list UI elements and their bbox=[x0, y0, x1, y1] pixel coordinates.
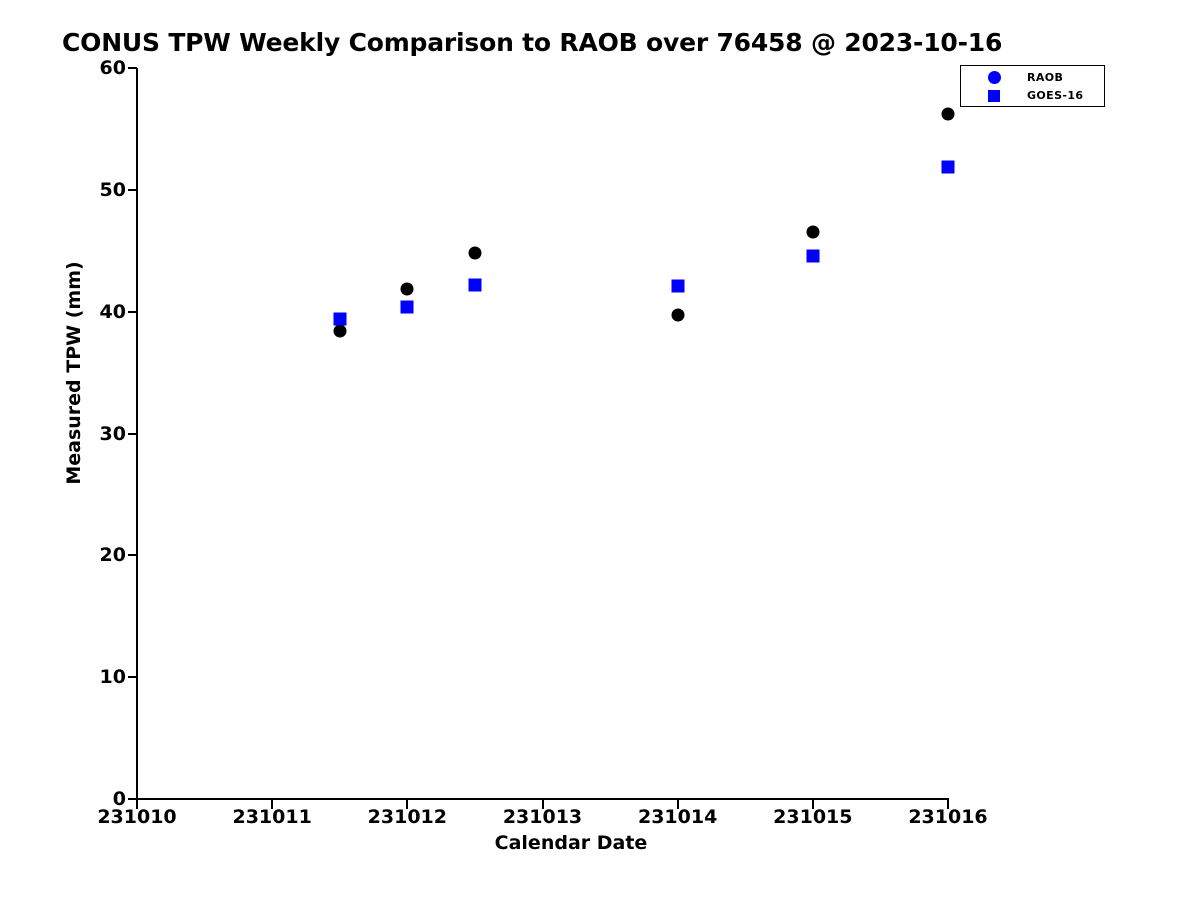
chart-figure: CONUS TPW Weekly Comparison to RAOB over… bbox=[0, 0, 1200, 900]
data-point-raob bbox=[468, 247, 481, 260]
legend-label-goes16: GOES-16 bbox=[1027, 89, 1084, 102]
legend-label-raob: RAOB bbox=[1027, 71, 1063, 84]
y-axis-tick-label: 30 bbox=[100, 423, 126, 445]
x-axis-tick-label: 231013 bbox=[503, 806, 582, 828]
circle-marker-icon bbox=[988, 71, 1001, 84]
data-point-raob bbox=[671, 309, 684, 322]
y-axis-tick-label: 40 bbox=[100, 301, 126, 323]
y-axis-tick-label: 50 bbox=[100, 179, 126, 201]
data-point-goes-16 bbox=[401, 300, 414, 313]
square-marker-icon bbox=[988, 90, 1000, 102]
x-axis-tick-label: 231012 bbox=[368, 806, 447, 828]
x-axis-label: Calendar Date bbox=[0, 832, 1200, 854]
legend-marker-slot-goes16 bbox=[961, 90, 1027, 102]
legend-item-raob[interactable]: RAOB bbox=[961, 68, 1106, 87]
y-axis-tick bbox=[128, 554, 137, 556]
y-axis-tick-label: 60 bbox=[100, 57, 126, 79]
y-axis-tick bbox=[128, 676, 137, 678]
y-axis-tick bbox=[128, 433, 137, 435]
data-point-raob bbox=[806, 226, 819, 239]
legend: RAOB GOES-16 bbox=[960, 65, 1105, 107]
data-point-raob bbox=[401, 282, 414, 295]
data-point-goes-16 bbox=[468, 278, 481, 291]
data-point-raob bbox=[942, 108, 955, 121]
x-axis-tick-label: 231015 bbox=[773, 806, 852, 828]
legend-marker-slot-raob bbox=[961, 71, 1027, 84]
legend-item-goes16[interactable]: GOES-16 bbox=[961, 86, 1106, 105]
chart-title: CONUS TPW Weekly Comparison to RAOB over… bbox=[62, 28, 1002, 57]
data-point-goes-16 bbox=[942, 160, 955, 173]
x-axis-tick-label: 231016 bbox=[908, 806, 987, 828]
data-point-goes-16 bbox=[671, 280, 684, 293]
y-axis-tick bbox=[128, 189, 137, 191]
x-axis-label-text: Calendar Date bbox=[495, 832, 648, 854]
y-axis-tick-label: 10 bbox=[100, 666, 126, 688]
y-axis-tick-label: 20 bbox=[100, 544, 126, 566]
x-axis-tick-label: 231011 bbox=[232, 806, 311, 828]
data-point-goes-16 bbox=[806, 249, 819, 262]
x-axis-tick-labels: 2310102310112310122310132310142310152310… bbox=[137, 806, 948, 834]
plot-area bbox=[137, 68, 948, 799]
data-point-raob bbox=[333, 325, 346, 338]
y-axis-tick bbox=[128, 67, 137, 69]
y-axis-tick bbox=[128, 311, 137, 313]
data-point-goes-16 bbox=[333, 312, 346, 325]
x-axis-tick-label: 231010 bbox=[97, 806, 176, 828]
x-axis-tick-label: 231014 bbox=[638, 806, 717, 828]
y-axis-label: Measured TPW (mm) bbox=[63, 243, 85, 503]
